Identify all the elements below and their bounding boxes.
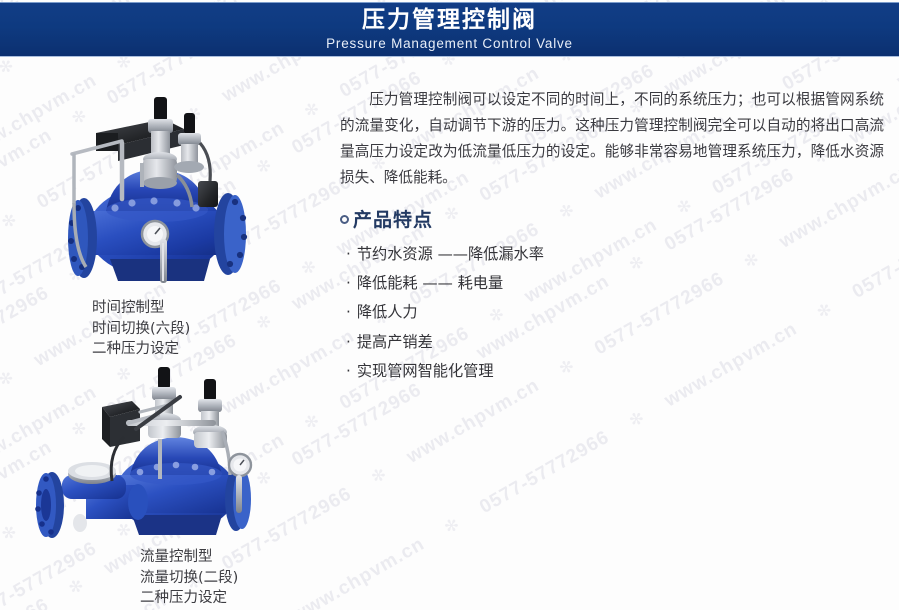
ring-icon xyxy=(340,215,349,224)
page-header-banner: 压力管理控制阀 Pressure Management Control Valv… xyxy=(0,2,899,57)
feature-item: ·提高产销差 xyxy=(346,328,544,357)
feature-item-label: 提高产销差 xyxy=(357,333,433,351)
feature-item-label: 节约水资源 ——降低漏水率 xyxy=(357,245,544,263)
feature-item-label: 降低人力 xyxy=(357,303,418,321)
feature-item: ·降低人力 xyxy=(346,298,544,327)
feature-item-label: 降低能耗 —— 耗电量 xyxy=(357,274,503,292)
product-image-column: 时间控制型 时间切换(六段) 二种压力设定 xyxy=(0,57,340,610)
bullet-dot-icon: · xyxy=(346,362,351,380)
bullet-dot-icon: · xyxy=(346,274,351,292)
page-body: 时间控制型 时间切换(六段) 二种压力设定 xyxy=(0,57,899,610)
feature-item: ·实现管网智能化管理 xyxy=(346,357,544,386)
features-heading-label: 产品特点 xyxy=(353,205,433,232)
feature-item: ·降低能耗 —— 耗电量 xyxy=(346,269,544,298)
time-control-valve-caption: 时间控制型 时间切换(六段) 二种压力设定 xyxy=(92,298,190,360)
bullet-dot-icon: · xyxy=(346,303,351,321)
feature-item: ·节约水资源 ——降低漏水率 xyxy=(346,240,544,269)
page-title-en: Pressure Management Control Valve xyxy=(326,36,573,51)
flow-control-valve-photo xyxy=(8,357,308,549)
product-text-column: 压力管理控制阀可以设定不同的时间上，不同的系统压力；也可以根据管网系统的流量变化… xyxy=(340,57,899,610)
feature-item-label: 实现管网智能化管理 xyxy=(357,362,494,380)
intro-paragraph: 压力管理控制阀可以设定不同的时间上，不同的系统压力；也可以根据管网系统的流量变化… xyxy=(340,87,884,191)
bullet-dot-icon: · xyxy=(346,245,351,263)
time-control-valve-photo xyxy=(14,71,304,301)
page-root: ✻0577-57772966✻www.chpvm.cn✻0577-5777296… xyxy=(0,0,899,610)
features-heading: 产品特点 xyxy=(340,205,433,232)
flow-control-valve-caption: 流量控制型 流量切换(二段) 二种压力设定 xyxy=(140,547,238,609)
bullet-dot-icon: · xyxy=(346,333,351,351)
features-list: ·节约水资源 ——降低漏水率·降低能耗 —— 耗电量·降低人力·提高产销差·实现… xyxy=(346,240,544,386)
page-title-cn: 压力管理控制阀 xyxy=(362,8,537,32)
